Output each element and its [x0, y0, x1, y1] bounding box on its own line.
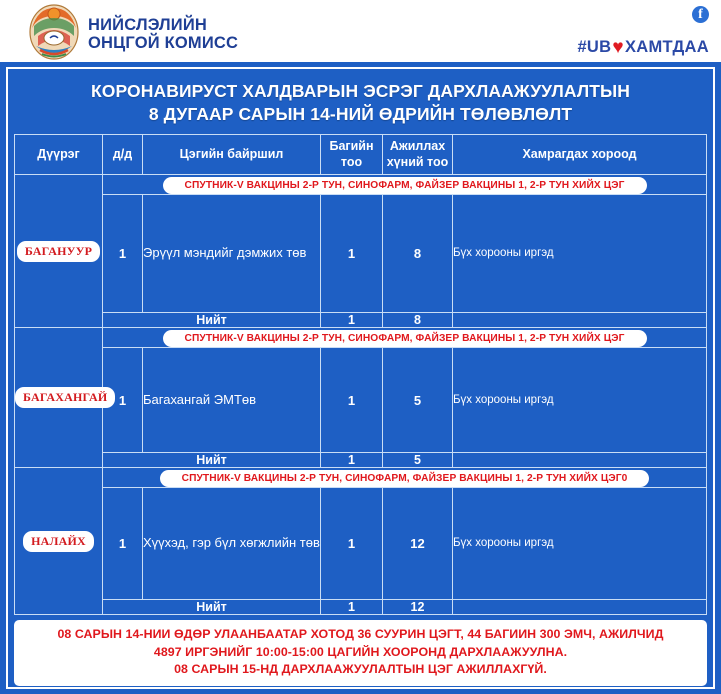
- teams-count: 1: [321, 195, 383, 313]
- row-number: 1: [103, 488, 143, 600]
- total-teams: 1: [321, 600, 383, 615]
- org-name: НИЙСЛЭЛИЙН ОНЦГОЙ КОМИСС: [88, 17, 238, 53]
- total-khoroo-empty: [453, 313, 707, 328]
- hashtag-ub-together: #UB ♥ ХАМТДАА: [577, 36, 709, 58]
- heart-icon: ♥: [612, 37, 624, 59]
- banner-row: БАГАНУУР СПУТНИК-V ВАКЦИНЫ 2-Р ТУН, СИНО…: [15, 175, 707, 195]
- vaccine-banner-cell: СПУТНИК-V ВАКЦИНЫ 2-Р ТУН, СИНОФАРМ, ФАЙ…: [103, 175, 707, 195]
- total-row: Нийт 1 12: [15, 600, 707, 615]
- district-cell-baganuur: БАГАНУУР: [15, 175, 103, 328]
- site-name: Хүүхэд, гэр бүл хөгжлийн төв: [143, 488, 321, 600]
- total-teams: 1: [321, 453, 383, 468]
- total-staff: 8: [383, 313, 453, 328]
- column-header-district: Дүүрэг: [15, 135, 103, 175]
- teams-count: 1: [321, 488, 383, 600]
- total-teams: 1: [321, 313, 383, 328]
- footer-line-3: 08 САРЫН 15-НД ДАРХЛААЖУУЛАЛТЫН ЦЭГ АЖИЛ…: [22, 661, 699, 679]
- page-title-line1: КОРОНАВИРУСТ ХАЛДВАРЫН ЭСРЭГ ДАРХЛААЖУУЛ…: [18, 80, 703, 103]
- footer-line-2: 4897 ИРГЭНИЙГ 10:00-15:00 ЦАГИЙН ХООРОНД…: [22, 644, 699, 662]
- page-title: КОРОНАВИРУСТ ХАЛДВАРЫН ЭСРЭГ ДАРХЛААЖУУЛ…: [14, 73, 707, 134]
- column-header-teams-line2: тоо: [321, 155, 382, 171]
- total-khoroo-empty: [453, 600, 707, 615]
- table-row: 1 Багахангай ЭМТөв 1 5 Бүх хорооны иргэд: [15, 348, 707, 453]
- column-header-staff: Ажиллах хүний тоо: [383, 135, 453, 175]
- vaccination-plan-poster: КОРОНАВИРУСТ ХАЛДВАРЫН ЭСРЭГ ДАРХЛААЖУУЛ…: [0, 62, 721, 694]
- site-name: Багахангай ЭМТөв: [143, 348, 321, 453]
- district-badge: НАЛАЙХ: [23, 531, 94, 552]
- table-row: 1 Хүүхэд, гэр бүл хөгжлийн төв 1 12 Бүх …: [15, 488, 707, 600]
- column-header-site: Цэгийн байршил: [143, 135, 321, 175]
- vaccine-banner: СПУТНИК-V ВАКЦИНЫ 2-Р ТУН, СИНОФАРМ, ФАЙ…: [160, 470, 650, 487]
- vaccination-plan-table: Дүүрэг д/д Цэгийн байршил Багийн тоо Ажи…: [14, 134, 707, 615]
- org-name-line1: НИЙСЛЭЛИЙН: [88, 17, 238, 35]
- total-row: Нийт 1 8: [15, 313, 707, 328]
- vaccine-banner: СПУТНИК-V ВАКЦИНЫ 2-Р ТУН, СИНОФАРМ, ФАЙ…: [163, 330, 647, 347]
- footer-line-1: 08 САРЫН 14-НИИ ӨДӨР УЛААНБААТАР ХОТОД 3…: [22, 626, 699, 644]
- staff-count: 12: [383, 488, 453, 600]
- staff-count: 5: [383, 348, 453, 453]
- total-staff: 5: [383, 453, 453, 468]
- column-header-teams: Багийн тоо: [321, 135, 383, 175]
- page-header: НИЙСЛЭЛИЙН ОНЦГОЙ КОМИСС f #UB ♥ ХАМТДАА: [0, 0, 721, 62]
- khoroo-coverage: Бүх хорооны иргэд: [453, 195, 707, 313]
- teams-count: 1: [321, 348, 383, 453]
- district-cell-bagakhangai: БАГАХАНГАЙ: [15, 328, 103, 468]
- facebook-icon[interactable]: f: [692, 6, 709, 23]
- total-row: Нийт 1 5: [15, 453, 707, 468]
- column-header-staff-line1: Ажиллах: [383, 139, 452, 155]
- poster-frame: КОРОНАВИРУСТ ХАЛДВАРЫН ЭСРЭГ ДАРХЛААЖУУЛ…: [6, 67, 715, 689]
- column-header-staff-line2: хүний тоо: [383, 155, 452, 171]
- banner-row: НАЛАЙХ СПУТНИК-V ВАКЦИНЫ 2-Р ТУН, СИНОФА…: [15, 468, 707, 488]
- hashtag-prefix: #UB: [577, 38, 611, 57]
- footer-note: 08 САРЫН 14-НИИ ӨДӨР УЛААНБААТАР ХОТОД 3…: [14, 620, 707, 686]
- table-header-row: Дүүрэг д/д Цэгийн байршил Багийн тоо Ажи…: [15, 135, 707, 175]
- table-row: 1 Эрүүл мэндийг дэмжих төв 1 8 Бүх хороо…: [15, 195, 707, 313]
- banner-row: БАГАХАНГАЙ СПУТНИК-V ВАКЦИНЫ 2-Р ТУН, СИ…: [15, 328, 707, 348]
- column-header-no: д/д: [103, 135, 143, 175]
- site-name: Эрүүл мэндийг дэмжих төв: [143, 195, 321, 313]
- total-staff: 12: [383, 600, 453, 615]
- table-header: Дүүрэг д/д Цэгийн байршил Багийн тоо Ажи…: [15, 135, 707, 175]
- brand-block: НИЙСЛЭЛИЙН ОНЦГОЙ КОМИСС: [28, 2, 238, 60]
- vaccine-banner-cell: СПУТНИК-V ВАКЦИНЫ 2-Р ТУН, СИНОФАРМ, ФАЙ…: [103, 468, 707, 488]
- total-label: Нийт: [103, 453, 321, 468]
- total-label: Нийт: [103, 313, 321, 328]
- district-badge: БАГАНУУР: [17, 241, 100, 262]
- column-header-teams-line1: Багийн: [321, 139, 382, 155]
- khoroo-coverage: Бүх хорооны иргэд: [453, 488, 707, 600]
- page-title-line2: 8 ДУГААР САРЫН 14-НИЙ ӨДРИЙН ТӨЛӨВЛӨЛТ: [18, 103, 703, 126]
- district-badge: БАГАХАНГАЙ: [15, 387, 115, 408]
- district-cell-nalaikh: НАЛАЙХ: [15, 468, 103, 615]
- total-label: Нийт: [103, 600, 321, 615]
- hashtag-suffix: ХАМТДАА: [625, 38, 709, 57]
- vaccine-banner-cell: СПУТНИК-V ВАКЦИНЫ 2-Р ТУН, СИНОФАРМ, ФАЙ…: [103, 328, 707, 348]
- org-name-line2: ОНЦГОЙ КОМИСС: [88, 35, 238, 53]
- column-header-khoroo: Хамрагдах хороод: [453, 135, 707, 175]
- row-number: 1: [103, 195, 143, 313]
- total-khoroo-empty: [453, 453, 707, 468]
- ulaanbaatar-coat-of-arms-icon: [28, 2, 80, 60]
- vaccine-banner: СПУТНИК-V ВАКЦИНЫ 2-Р ТУН, СИНОФАРМ, ФАЙ…: [163, 177, 647, 194]
- khoroo-coverage: Бүх хорооны иргэд: [453, 348, 707, 453]
- table-body: БАГАНУУР СПУТНИК-V ВАКЦИНЫ 2-Р ТУН, СИНО…: [15, 175, 707, 615]
- staff-count: 8: [383, 195, 453, 313]
